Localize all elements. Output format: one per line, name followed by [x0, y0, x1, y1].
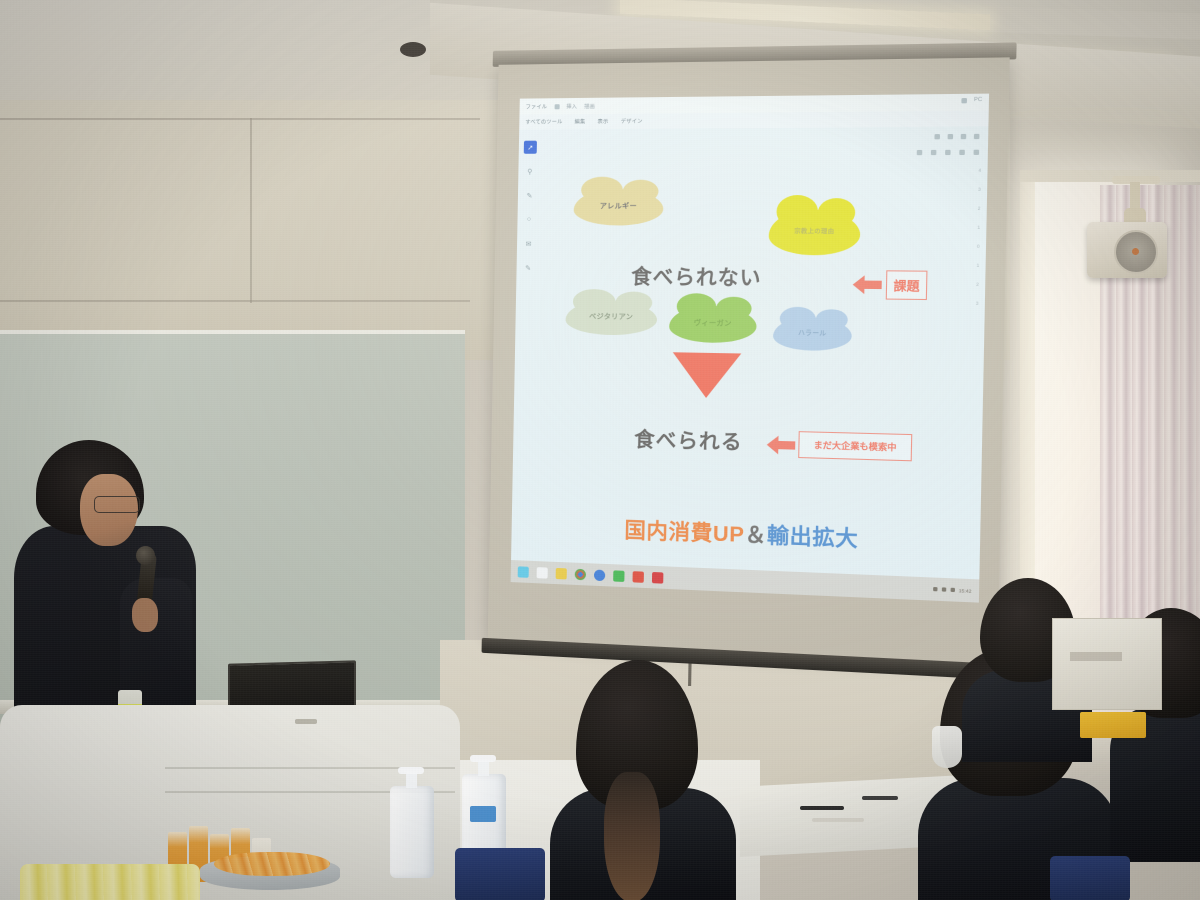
menu-item-edit[interactable]: 編集 — [574, 118, 585, 125]
home-icon[interactable] — [554, 104, 559, 109]
highlight-icon[interactable] — [931, 149, 937, 154]
ribbon-right-group-2 — [906, 149, 979, 156]
undo-icon[interactable] — [934, 134, 940, 139]
yellow-sample-cups — [20, 864, 200, 900]
bottom-headline: 国内消費UP＆輸出拡大 — [535, 511, 954, 558]
cloud-allergy-label: アレルギー — [600, 203, 637, 211]
sanitizer-neck — [406, 772, 417, 788]
pdf-icon[interactable] — [652, 571, 664, 583]
tool-rail: ➚ ⚲ ✎ ○ ✉ ✎ — [519, 141, 538, 275]
yellow-box — [1080, 712, 1146, 738]
image-icon[interactable] — [959, 149, 965, 154]
chrome-icon[interactable] — [575, 568, 586, 580]
tray-network-icon[interactable] — [933, 587, 937, 591]
document-icon[interactable] — [537, 567, 548, 579]
redo-icon[interactable] — [948, 134, 954, 139]
ruler-mark: 2 — [978, 206, 981, 211]
ruler-mark: 2 — [976, 282, 979, 287]
ruler-mark: 3 — [978, 187, 981, 192]
sanitizer-label — [470, 806, 496, 822]
cabinet — [1052, 618, 1162, 710]
folder-icon[interactable] — [556, 567, 567, 579]
ribbon-right-group — [934, 134, 979, 140]
slide-canvas: アレルギー 宗教上の理由 食べられない ベジタリアン ヴィーガン — [535, 159, 961, 575]
food-samples — [214, 852, 330, 876]
media-icon[interactable] — [633, 571, 644, 583]
sanitizer-neck — [478, 760, 489, 776]
wall-seam — [0, 118, 480, 120]
smoke-detector-icon — [400, 42, 426, 57]
menu-item-alltools[interactable]: すべてのツール — [525, 118, 562, 125]
ruler-mark: 1 — [977, 225, 980, 230]
wall-seam — [0, 300, 470, 302]
classroom-photo: ファイル 挿入 描画 PC すべてのツール 編集 表示 デザイン — [0, 0, 1200, 900]
app-menubar: すべてのツール 編集 表示 デザイン — [519, 111, 989, 130]
chair — [455, 848, 545, 900]
cloud-allergy: アレルギー — [573, 189, 663, 226]
presenter-hand — [132, 598, 158, 632]
ruler-mark: 3 — [976, 301, 979, 306]
sanitizer-pump — [470, 755, 496, 762]
tag-issue: 課題 — [886, 270, 928, 300]
cloud-vegetarian: ベジタリアン — [565, 300, 657, 336]
topbar-right-group: PC — [962, 97, 983, 104]
headline-part2: 輸出拡大 — [767, 524, 859, 551]
shape-icon[interactable] — [945, 149, 951, 154]
text-icon[interactable] — [917, 149, 923, 154]
mail-icon[interactable] — [613, 570, 624, 582]
screen-surface: ファイル 挿入 描画 PC すべてのツール 編集 表示 デザイン — [488, 57, 1010, 665]
wall-seam — [250, 118, 252, 303]
cloud-halal: ハラール — [773, 317, 852, 351]
cloud-religion-label: 宗教上の理由 — [794, 229, 834, 236]
microphone-head — [136, 546, 155, 565]
share-icon[interactable] — [961, 134, 967, 139]
cloud-vegan-label: ヴィーガン — [694, 320, 732, 329]
left-arrow-icon-issue — [850, 272, 883, 297]
desk-handle — [295, 719, 317, 724]
pen — [862, 796, 898, 800]
cloud-religion: 宗教上の理由 — [768, 209, 860, 255]
select-tool-icon[interactable]: ➚ — [524, 141, 537, 154]
ruler-mark: 0 — [977, 244, 980, 249]
ruler-mark: 1 — [977, 263, 980, 268]
projected-desktop: ファイル 挿入 描画 PC すべてのツール 編集 表示 デザイン — [511, 94, 989, 603]
headline-part1: 国内消費UP — [624, 519, 744, 547]
menu-item-design[interactable]: デザイン — [621, 118, 643, 125]
student-ponytail — [604, 772, 660, 900]
cloud-vegetarian-label: ベジタリアン — [589, 313, 633, 322]
glasses-icon — [94, 496, 140, 513]
explorer-icon[interactable] — [518, 566, 529, 578]
zoom-tool-icon[interactable]: ⚲ — [523, 165, 536, 178]
ruler: 4 3 2 1 0 1 2 3 — [967, 168, 985, 516]
curtain-rail — [1020, 170, 1200, 182]
cabinet-label — [1070, 652, 1122, 661]
tray-volume-icon[interactable] — [941, 587, 945, 591]
sanitizer-bottle-1 — [390, 786, 434, 878]
menu-item-draw[interactable]: 描画 — [584, 102, 595, 109]
chair — [1050, 856, 1130, 900]
sanitizer-pump — [398, 767, 424, 774]
pen-tool-icon[interactable]: ✎ — [523, 189, 536, 202]
ribbon-label — [906, 149, 908, 155]
projection-screen: ファイル 挿入 描画 PC すべてのツール 編集 表示 デザイン — [481, 47, 1025, 704]
face-mask — [932, 726, 962, 768]
shape-tool-icon[interactable]: ○ — [522, 213, 535, 226]
browser-icon[interactable] — [594, 569, 605, 581]
settings-icon[interactable] — [974, 149, 980, 154]
comment-tool-icon[interactable]: ✉ — [522, 237, 535, 250]
minimize-icon[interactable] — [962, 98, 968, 103]
zoom-hint: PC — [974, 97, 982, 103]
down-triangle-icon — [672, 352, 741, 398]
cloud-vegan: ヴィーガン — [669, 305, 757, 343]
stamp-tool-icon[interactable]: ✎ — [521, 261, 534, 274]
headline-amp: ＆ — [744, 523, 767, 548]
projector-lens-icon — [1114, 230, 1158, 274]
pencil — [812, 818, 864, 822]
cloud-halal-label: ハラール — [798, 330, 827, 338]
student-front-left — [548, 660, 738, 900]
tag-searching: まだ大企業も模索中 — [798, 431, 912, 461]
tray-battery-icon[interactable] — [950, 588, 954, 592]
heading-cannot-eat: 食べられない — [631, 260, 762, 291]
pen — [800, 806, 844, 810]
menu-item-insert[interactable]: 挿入 — [566, 103, 577, 110]
more-icon[interactable] — [974, 134, 980, 139]
ruler-mark: 4 — [978, 168, 981, 173]
left-arrow-icon-searching — [764, 432, 796, 458]
menu-item-view[interactable]: 表示 — [597, 118, 608, 125]
menu-item-file[interactable]: ファイル — [526, 103, 548, 110]
heading-can-eat: 食べられる — [634, 423, 743, 456]
